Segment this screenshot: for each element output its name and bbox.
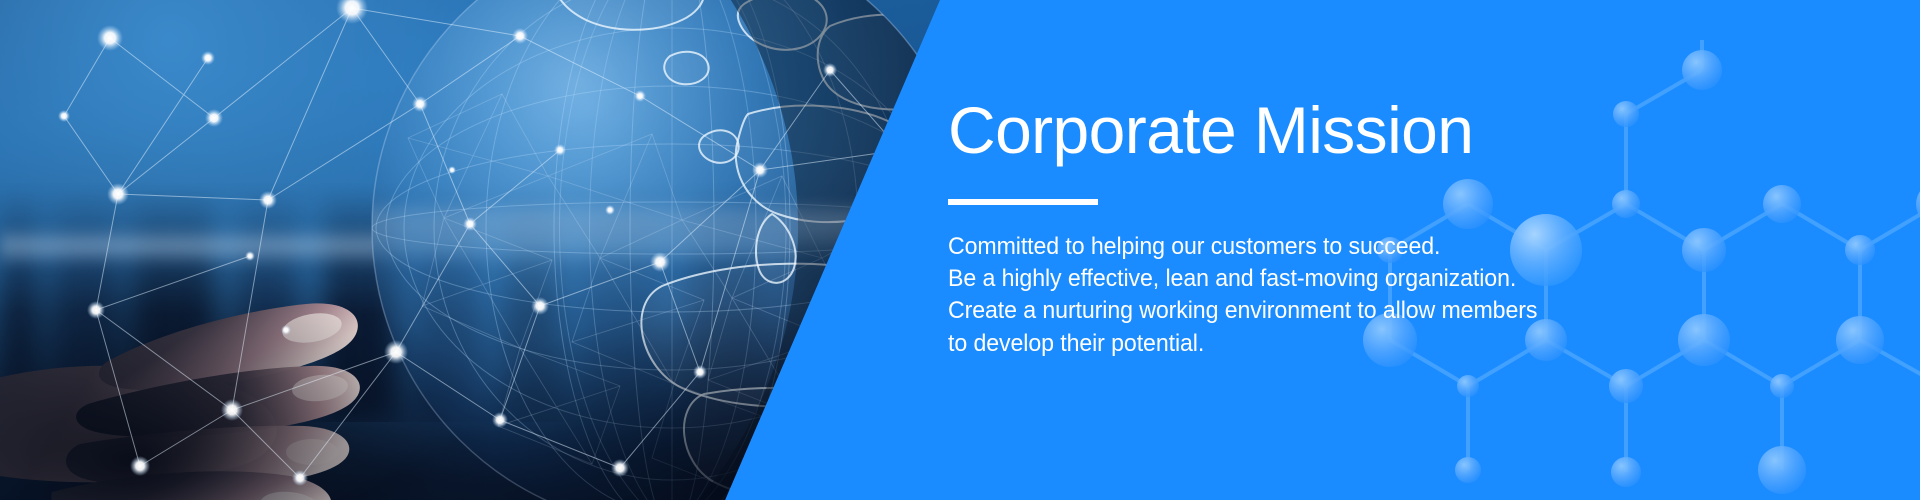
title-underline-rule	[948, 199, 1098, 205]
mission-line: Create a nurturing working environment t…	[948, 295, 1647, 327]
mission-line: Be a highly effective, lean and fast-mov…	[948, 263, 1647, 295]
page-title: Corporate Mission	[948, 96, 1688, 165]
mission-statement-list: Committed to helping our customers to su…	[948, 231, 1688, 360]
mission-line: to develop their potential.	[948, 328, 1647, 360]
corporate-mission-banner: Corporate Mission Committed to helping o…	[0, 0, 1920, 500]
mission-line: Committed to helping our customers to su…	[948, 231, 1647, 263]
banner-content: Corporate Mission Committed to helping o…	[948, 96, 1688, 360]
